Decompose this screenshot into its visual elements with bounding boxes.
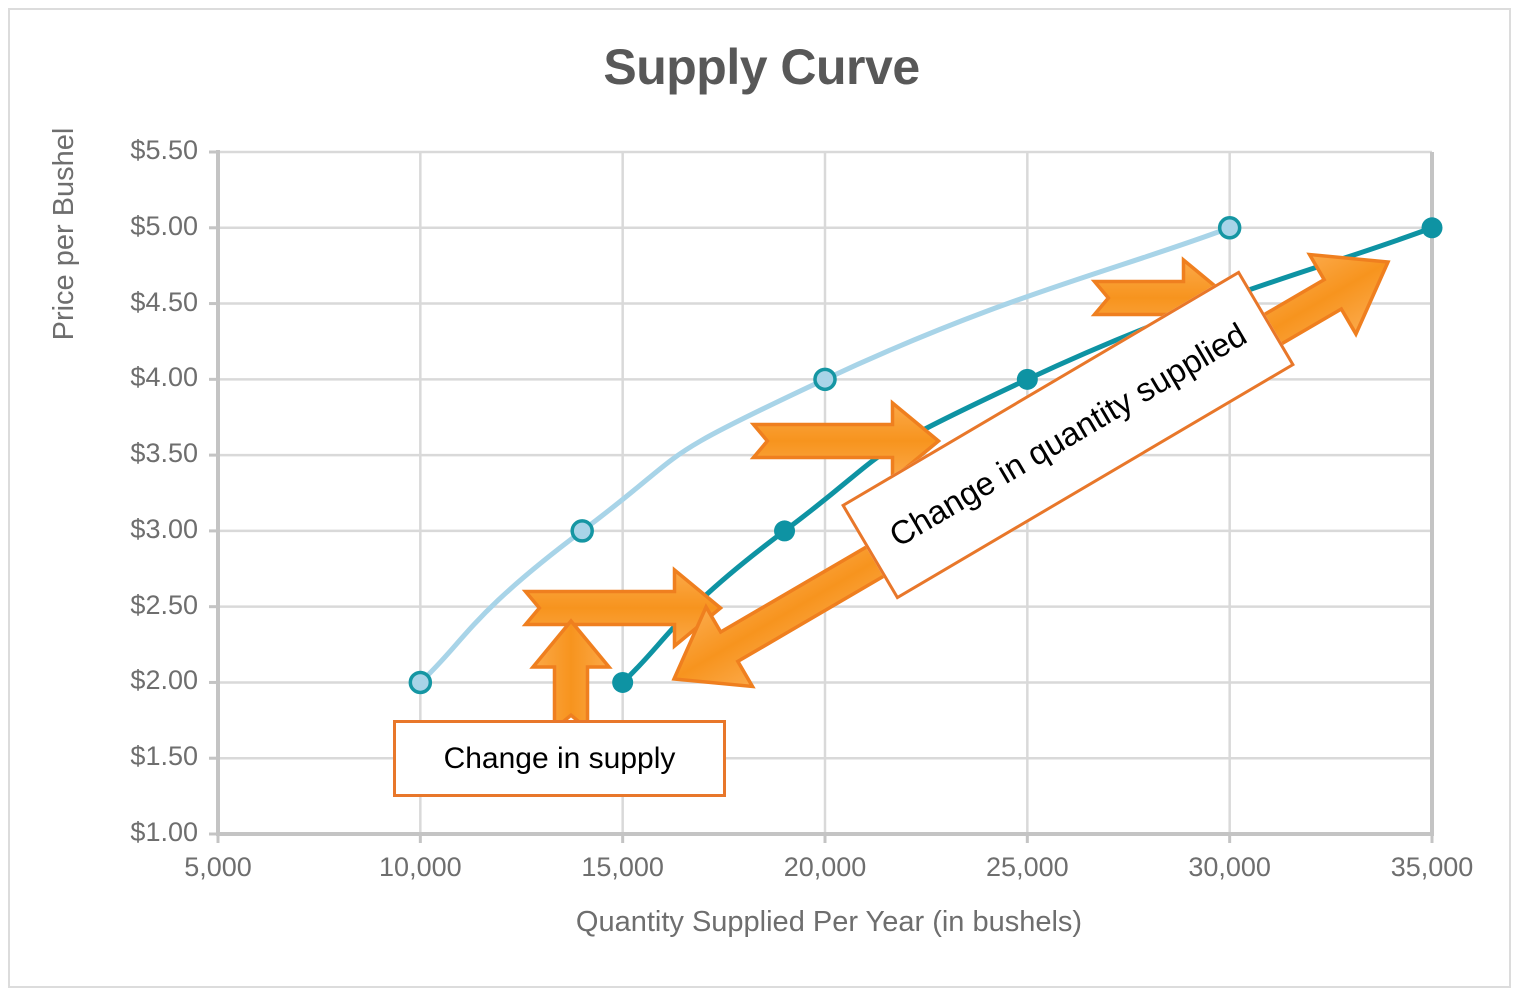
chart-frame: Supply Curve Price per Bushel Quantity S… — [8, 8, 1511, 988]
plot-area — [10, 10, 1513, 990]
callout-change-in-supply: Change in supply — [393, 720, 726, 797]
supply-callout-arrow — [533, 621, 609, 729]
